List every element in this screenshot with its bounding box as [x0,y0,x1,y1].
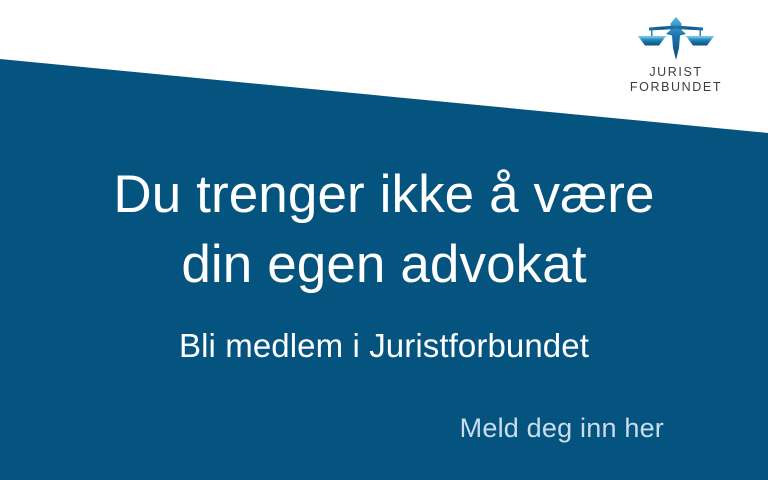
headline-line-1: Du trenger ikke å være [0,160,768,230]
headline-line-2: din egen advokat [0,230,768,300]
subtitle: Bli medlem i Juristforbundet [0,325,768,368]
headline: Du trenger ikke å være din egen advokat [0,160,768,301]
signup-cta-link[interactable]: Meld deg inn her [460,412,664,446]
advertisement-banner[interactable]: JURIST FORBUNDET Du trenger ikke å være … [0,0,768,480]
banner-content: Du trenger ikke å være din egen advokat … [0,0,768,480]
